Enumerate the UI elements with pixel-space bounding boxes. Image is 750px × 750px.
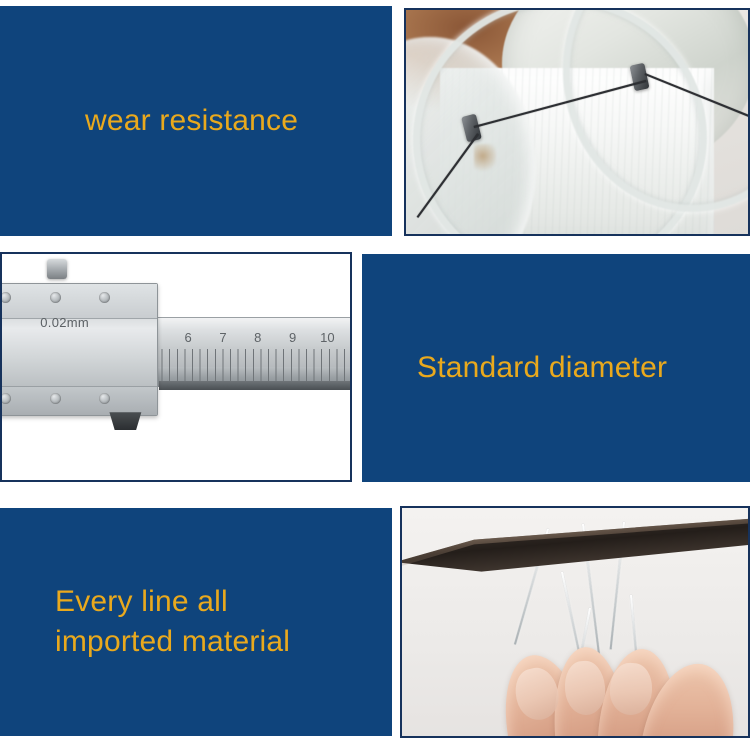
panel-wear-resistance: wear resistance xyxy=(0,6,392,236)
caliper-scale-number: 8 xyxy=(254,330,261,345)
spool-debris xyxy=(474,144,496,174)
panel-standard-diameter: Standard diameter xyxy=(362,254,750,482)
caliper-precision-label: 0.02mm xyxy=(40,315,89,330)
tweezer-photo-image xyxy=(402,508,748,736)
product-feature-collage: wear resistance 1 2 xyxy=(0,0,750,750)
caliper-jaw xyxy=(106,412,144,430)
caliper-scale-number: 9 xyxy=(289,330,296,345)
panel-imported-material: Every line all imported material xyxy=(0,508,392,736)
caliper-thumb-screw xyxy=(47,259,67,279)
spool-photo-image xyxy=(406,10,748,234)
panel-tweezer-photo xyxy=(400,506,750,738)
caliper-scale-number: 10 xyxy=(320,330,334,345)
caption-wear-resistance: wear resistance xyxy=(0,101,298,142)
caliper-depth-rod xyxy=(159,381,352,390)
caption-standard-diameter: Standard diameter xyxy=(362,348,667,389)
panel-caliper-photo: 1 2 3 4 5 6 7 8 9 10 2 3 4 5 6 7 8 xyxy=(0,252,352,482)
caliper-photo-image: 1 2 3 4 5 6 7 8 9 10 2 3 4 5 6 7 8 xyxy=(2,254,350,480)
caliper-slider-bottom-face xyxy=(0,386,157,416)
caliper-screw xyxy=(50,393,61,404)
caption-imported-material: Every line all imported material xyxy=(0,582,290,663)
caliper-screw xyxy=(50,292,61,303)
caliper-scale-number: 7 xyxy=(219,330,226,345)
caliper-scale-number: 6 xyxy=(185,330,192,345)
panel-spool-photo xyxy=(404,8,750,236)
caliper-slider xyxy=(0,283,158,416)
